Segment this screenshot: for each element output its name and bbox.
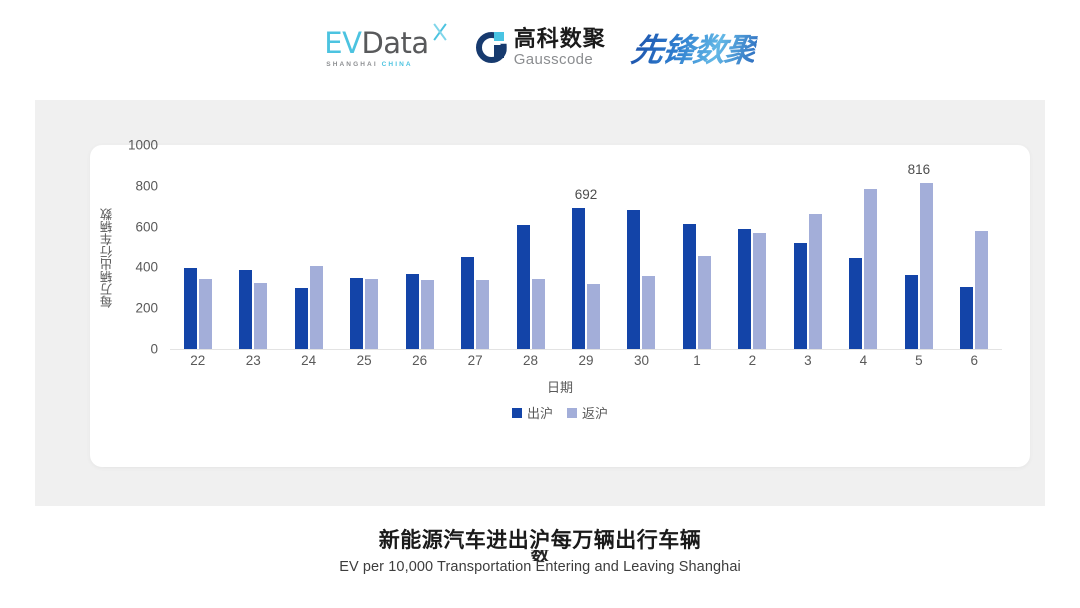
x-axis-title: 日期 xyxy=(90,377,1030,396)
x-tick-label: 22 xyxy=(170,353,225,377)
bar xyxy=(627,210,640,349)
bar-group xyxy=(503,145,558,349)
bar-group xyxy=(392,145,447,349)
gausscode-en-text: Gausscode xyxy=(514,52,606,67)
bar xyxy=(295,288,308,349)
xianfeng-cn-text: 先锋数聚 xyxy=(628,25,759,71)
bar xyxy=(809,214,822,349)
bar-group xyxy=(947,145,1002,349)
x-axis-ticks: 222324252627282930123456 xyxy=(170,353,1002,377)
evdata-ev-text: EV xyxy=(324,28,361,58)
evdata-data-text: Data xyxy=(361,28,428,58)
gausscode-cn-text: 高科数聚 xyxy=(514,28,606,50)
bar xyxy=(350,278,363,349)
gausscode-wordmark: 高科数聚 Gausscode xyxy=(514,28,606,67)
caption-ghost-fragment: 数 xyxy=(530,550,549,561)
bar-group: 692 xyxy=(558,145,613,349)
xianfeng-logo: 先锋数聚 xyxy=(632,25,756,71)
y-tick-label: 600 xyxy=(135,219,158,234)
bar-groups: 692816 xyxy=(170,145,1002,349)
evdata-tagline-china: CHINA xyxy=(382,61,413,68)
bar xyxy=(905,275,918,349)
legend-label: 返沪 xyxy=(582,403,608,422)
legend-item[interactable]: 出沪 xyxy=(512,403,553,422)
bar xyxy=(310,266,323,349)
bar xyxy=(406,274,419,349)
legend-item[interactable]: 返沪 xyxy=(567,403,608,422)
legend-swatch-icon xyxy=(567,408,577,418)
x-tick-label: 6 xyxy=(947,353,1002,377)
bar-group xyxy=(336,145,391,349)
bar xyxy=(683,224,696,349)
bar-group xyxy=(614,145,669,349)
bar xyxy=(421,280,434,349)
bar xyxy=(864,189,877,349)
bar-group xyxy=(225,145,280,349)
bar xyxy=(476,280,489,349)
bar-group xyxy=(725,145,780,349)
x-tick-label: 25 xyxy=(336,353,391,377)
bar xyxy=(920,183,933,349)
bar xyxy=(975,231,988,349)
evdata-tagline: SHANGHAI CHINA xyxy=(326,61,412,68)
chart-legend: 出沪返沪 xyxy=(90,403,1030,422)
x-tick-label: 2 xyxy=(725,353,780,377)
caption-title-en: EV per 10,000 Transportation Entering an… xyxy=(0,559,1080,575)
bar xyxy=(365,279,378,349)
bar xyxy=(517,225,530,349)
bar xyxy=(239,270,252,349)
bar-group xyxy=(170,145,225,349)
x-tick-label: 4 xyxy=(836,353,891,377)
bar-value-label: 692 xyxy=(575,187,598,202)
x-tick-label: 27 xyxy=(447,353,502,377)
x-tick-label: 3 xyxy=(780,353,835,377)
plot-area: 692816 xyxy=(170,145,1002,350)
bar xyxy=(849,258,862,349)
bar xyxy=(184,268,197,349)
y-tick-label: 0 xyxy=(150,342,158,357)
bar-value-label: 816 xyxy=(908,162,931,177)
bar xyxy=(794,243,807,349)
bar xyxy=(461,257,474,349)
bar xyxy=(642,276,655,349)
chart-panel: 每万辆出行车辆数 02004006008001000 692816 222324… xyxy=(35,100,1045,506)
caption-block: 新能源汽车进出沪每万辆出行车辆 数 EV per 10,000 Transpor… xyxy=(0,528,1080,575)
logo-bar: EV Data SHANGHAI CHINA 高科数聚 Gausscode 先锋… xyxy=(0,0,1080,95)
x-cross-icon xyxy=(430,22,450,42)
bar-group xyxy=(281,145,336,349)
bar xyxy=(960,287,973,349)
legend-swatch-icon xyxy=(512,408,522,418)
bar-group xyxy=(836,145,891,349)
bar-group: 816 xyxy=(891,145,946,349)
x-tick-label: 23 xyxy=(225,353,280,377)
y-tick-label: 200 xyxy=(135,301,158,316)
bar-group xyxy=(447,145,502,349)
bar xyxy=(738,229,751,349)
bar-chart: 每万辆出行车辆数 02004006008001000 692816 222324… xyxy=(90,145,1030,467)
bar xyxy=(753,233,766,349)
x-tick-label: 1 xyxy=(669,353,724,377)
chart-card: 每万辆出行车辆数 02004006008001000 692816 222324… xyxy=(90,145,1030,467)
evdata-tagline-shanghai: SHANGHAI xyxy=(326,61,377,68)
evdata-logo: EV Data SHANGHAI CHINA xyxy=(324,28,449,68)
x-tick-label: 5 xyxy=(891,353,946,377)
legend-label: 出沪 xyxy=(527,403,553,422)
evdata-wordmark: EV Data xyxy=(324,28,449,58)
bar xyxy=(572,208,585,349)
bar xyxy=(254,283,267,349)
bar-group xyxy=(780,145,835,349)
y-tick-label: 400 xyxy=(135,260,158,275)
x-tick-label: 29 xyxy=(558,353,613,377)
x-tick-label: 28 xyxy=(503,353,558,377)
bar xyxy=(587,284,600,349)
bar xyxy=(698,256,711,349)
gausscode-mark-icon xyxy=(476,32,507,63)
bar xyxy=(199,279,212,349)
gausscode-logo: 高科数聚 Gausscode xyxy=(476,28,606,67)
y-tick-label: 1000 xyxy=(128,138,158,153)
x-tick-label: 24 xyxy=(281,353,336,377)
x-tick-label: 26 xyxy=(392,353,447,377)
y-axis-title: 每万辆出行车辆数 xyxy=(98,193,116,323)
bar xyxy=(532,279,545,349)
y-tick-label: 800 xyxy=(135,178,158,193)
x-tick-label: 30 xyxy=(614,353,669,377)
bar-group xyxy=(669,145,724,349)
